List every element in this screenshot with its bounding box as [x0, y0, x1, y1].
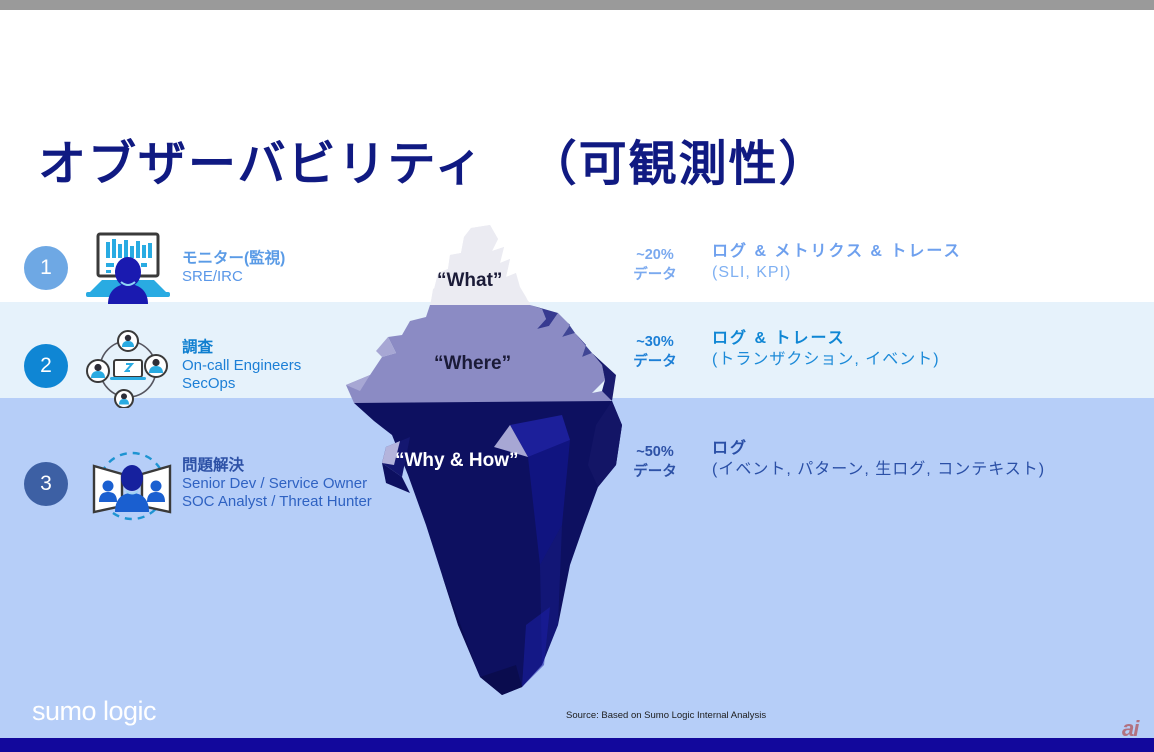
data-description-main-1: ログ & メトリクス & トレース: [712, 242, 962, 263]
data-percent-2: ~30% データ: [620, 333, 690, 372]
stage-title-1: モニター(監視): [182, 250, 285, 268]
data-description-main-3: ログ: [712, 439, 1045, 460]
video-conference-icon: [80, 448, 176, 520]
stage-title-3: 問題解決: [182, 457, 372, 475]
stage-labels-3: 問題解決 Senior Dev / Service Owner SOC Anal…: [182, 457, 372, 511]
data-percent-unit-3: データ: [620, 463, 690, 483]
stage-number-badge-2: 2: [24, 344, 68, 388]
slide-canvas: オブザーバビリティ（可観測性）: [0, 0, 1154, 752]
stage-row-investigate: 2: [0, 330, 301, 402]
stage-title-2: 調査: [182, 339, 301, 357]
stage-role-1-0: SRE/IRC: [182, 268, 285, 286]
data-description-2: ログ & トレース (トランザクション, イベント): [712, 329, 940, 371]
top-gray-bar: [0, 0, 1154, 10]
page-title-paren: （可観測性）: [529, 138, 829, 191]
iceberg-label-why: “Why & How”: [395, 450, 519, 472]
stage-number-badge-1: 1: [24, 246, 68, 290]
monitor-person-icon: [80, 232, 176, 304]
data-description-sub-3: (イベント, パターン, 生ログ, コンテキスト): [712, 460, 1045, 481]
data-percent-value-2: ~30%: [620, 333, 690, 353]
data-description-1: ログ & メトリクス & トレース (SLI, KPI): [712, 242, 962, 284]
iceberg-label-where: “Where”: [434, 353, 511, 375]
stage-role-2-0: On-call Engineers: [182, 357, 301, 375]
data-description-sub-2: (トランザクション, イベント): [712, 350, 940, 371]
sumo-logic-logo: sumo logic: [32, 696, 156, 727]
stage-role-2-1: SecOps: [182, 375, 301, 393]
data-percent-value-1: ~20%: [620, 246, 690, 266]
stage-role-3-1: SOC Analyst / Threat Hunter: [182, 493, 372, 511]
stage-role-3-0: Senior Dev / Service Owner: [182, 475, 372, 493]
page-title: オブザーバビリティ（可観測性）: [38, 124, 829, 194]
iceberg-label-what: “What”: [437, 270, 502, 292]
page-title-main: オブザーバビリティ: [38, 138, 485, 191]
data-description-3: ログ (イベント, パターン, 生ログ, コンテキスト): [712, 439, 1045, 481]
data-percent-unit-2: データ: [620, 353, 690, 373]
data-description-main-2: ログ & トレース: [712, 329, 940, 350]
stage-row-monitor: 1 モニタ: [0, 232, 285, 304]
stage-labels-1: モニター(監視) SRE/IRC: [182, 250, 285, 286]
source-note: Source: Based on Sumo Logic Internal Ana…: [566, 710, 766, 721]
network-team-icon: [80, 330, 176, 402]
data-percent-3: ~50% データ: [620, 443, 690, 482]
data-percent-value-3: ~50%: [620, 443, 690, 463]
data-percent-unit-1: データ: [620, 266, 690, 286]
bottom-navy-bar: [0, 738, 1154, 752]
data-percent-1: ~20% データ: [620, 246, 690, 285]
ai-watermark-icon: ai: [1122, 716, 1138, 742]
stage-row-resolve: 3 問題解決 Senior Dev / Service Owner SOC An…: [0, 448, 372, 520]
stage-labels-2: 調査 On-call Engineers SecOps: [182, 339, 301, 393]
data-description-sub-1: (SLI, KPI): [712, 263, 962, 284]
stage-number-badge-3: 3: [24, 462, 68, 506]
